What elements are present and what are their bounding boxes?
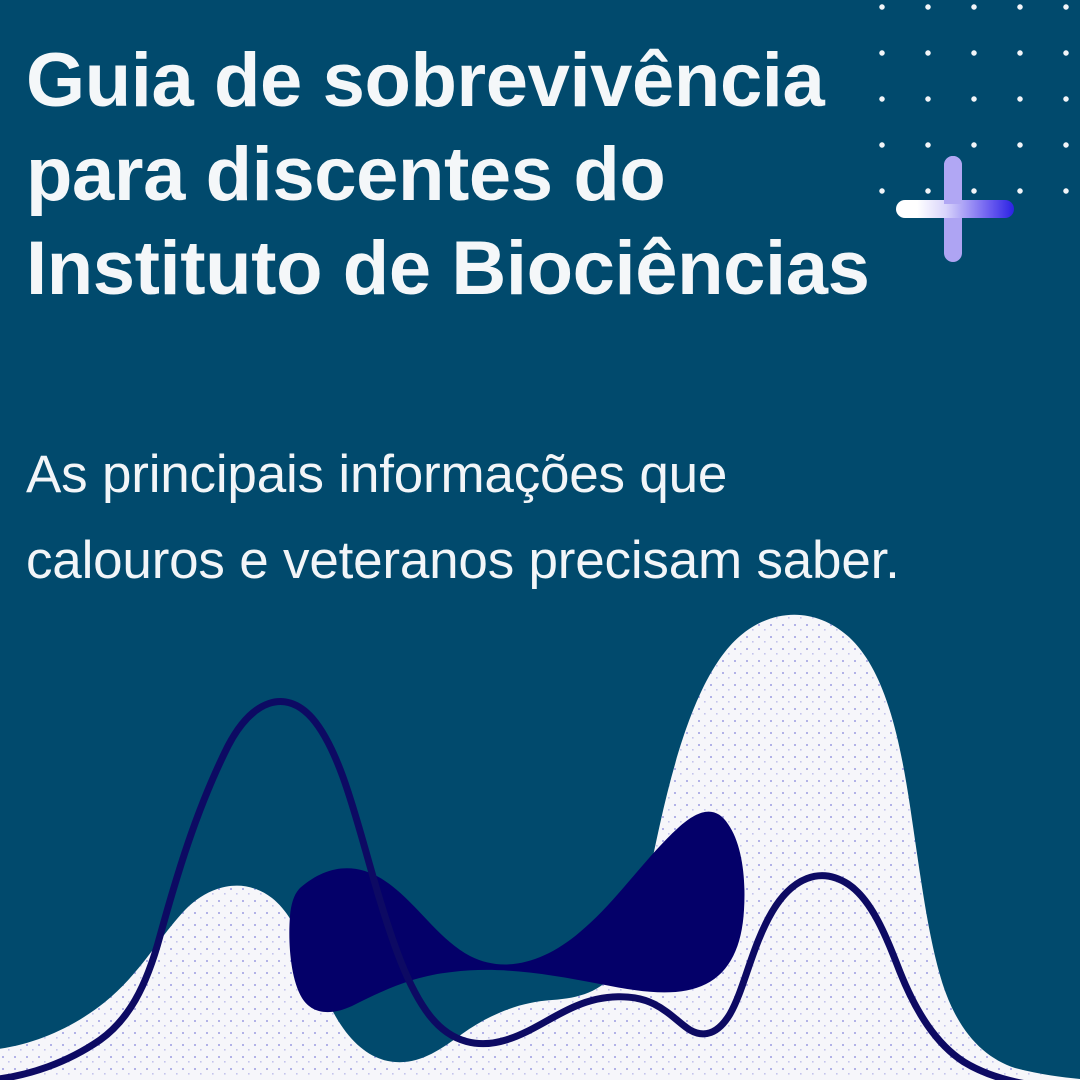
page-title: Guia de sobrevivência para discentes do … bbox=[26, 34, 906, 316]
poster-canvas: Guia de sobrevivência para discentes do … bbox=[0, 0, 1080, 1080]
abstract-wave-graphic bbox=[0, 610, 1080, 1080]
plus-icon-vertical-bar-top bbox=[944, 156, 962, 204]
navy-filled-wave bbox=[289, 812, 744, 1012]
plus-icon bbox=[896, 156, 1014, 262]
page-subtitle: As principais informações que calouros e… bbox=[26, 432, 1056, 604]
